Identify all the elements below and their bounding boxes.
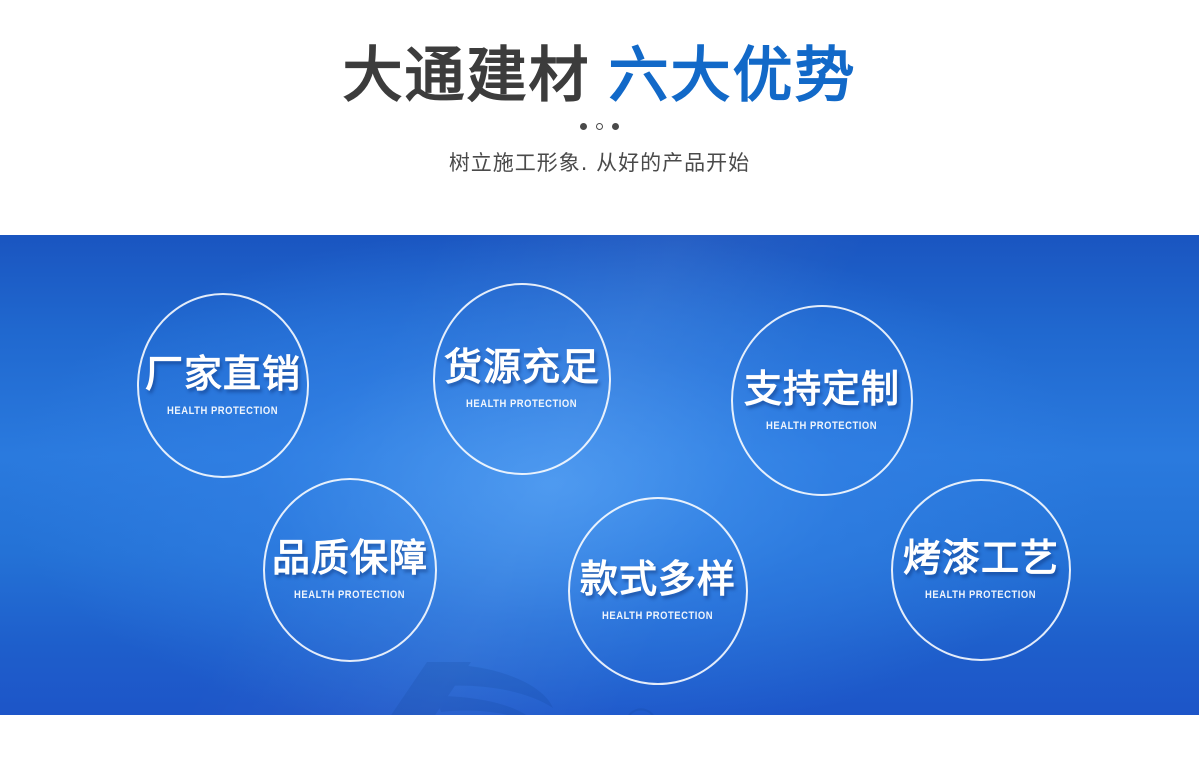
dot-filled-left bbox=[580, 123, 587, 130]
feature-subtitle-5: HEALTH PROTECTION bbox=[602, 610, 713, 622]
dot-hollow-center bbox=[596, 123, 603, 130]
feature-circle-5[interactable]: 款式多样 HEALTH PROTECTION bbox=[568, 497, 748, 685]
feature-circle-2[interactable]: 货源充足 HEALTH PROTECTION bbox=[433, 283, 611, 475]
title-brand: 大通建材 bbox=[343, 41, 591, 111]
feature-title-4: 品质保障 bbox=[272, 539, 428, 577]
features-panel: ® 大通建材 DATONG CONSTRUCTION MATERIALS 厂家直… bbox=[0, 235, 1199, 715]
feature-subtitle-1: HEALTH PROTECTION bbox=[167, 405, 278, 417]
decorative-dots bbox=[0, 123, 1199, 130]
feature-circle-4[interactable]: 品质保障 HEALTH PROTECTION bbox=[263, 478, 437, 662]
logo-mark-icon bbox=[375, 650, 595, 715]
feature-subtitle-2: HEALTH PROTECTION bbox=[466, 398, 577, 410]
registered-trademark-icon: ® bbox=[619, 704, 663, 715]
title-highlight: 六大优势 bbox=[609, 41, 857, 111]
feature-title-1: 厂家直销 bbox=[145, 355, 301, 393]
feature-title-5: 款式多样 bbox=[580, 560, 736, 598]
feature-subtitle-6: HEALTH PROTECTION bbox=[925, 589, 1036, 601]
dot-filled-right bbox=[612, 123, 619, 130]
feature-circle-6[interactable]: 烤漆工艺 HEALTH PROTECTION bbox=[891, 479, 1071, 661]
feature-title-6: 烤漆工艺 bbox=[903, 539, 1059, 577]
feature-circle-1[interactable]: 厂家直销 HEALTH PROTECTION bbox=[137, 293, 309, 478]
page-title: 大通建材六大优势 bbox=[0, 46, 1199, 106]
feature-title-2: 货源充足 bbox=[444, 348, 600, 386]
feature-circle-3[interactable]: 支持定制 HEALTH PROTECTION bbox=[731, 305, 913, 496]
feature-subtitle-3: HEALTH PROTECTION bbox=[766, 420, 877, 432]
page-subtitle: 树立施工形象. 从好的产品开始 bbox=[0, 147, 1199, 177]
header-section: 大通建材六大优势 树立施工形象. 从好的产品开始 bbox=[0, 0, 1199, 235]
feature-title-3: 支持定制 bbox=[744, 370, 900, 408]
feature-subtitle-4: HEALTH PROTECTION bbox=[294, 589, 405, 601]
